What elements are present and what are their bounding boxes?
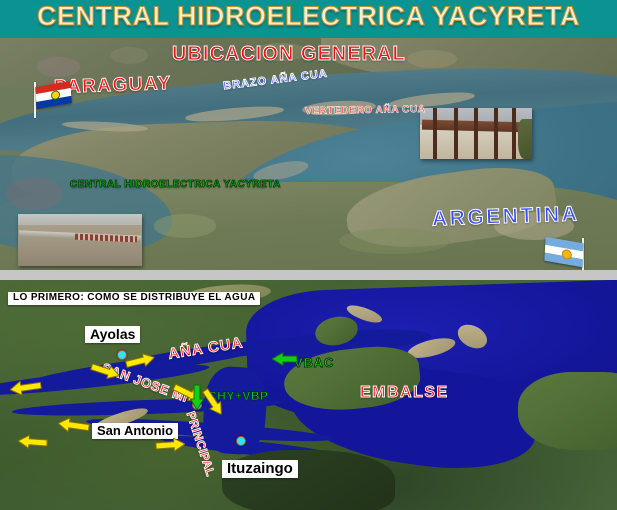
discharge-arrow-vbac <box>272 352 298 366</box>
bottom-map-terrain <box>0 280 617 510</box>
discharge-arrow-chy-vbp <box>190 384 204 410</box>
label-san-antonio: San Antonio <box>92 423 178 439</box>
flag-cloth <box>35 81 71 109</box>
photo-pier <box>454 108 458 159</box>
label-ayolas: Ayolas <box>85 326 140 343</box>
terrain-speckle <box>6 177 62 209</box>
photo-sky <box>18 214 142 225</box>
powerplant-photo-inset <box>18 214 142 266</box>
label-embalse: EMBALSE <box>360 385 449 401</box>
top-satellite-map: UBICACION GENERAL PARAGUAY BRAZO AÑA CUA… <box>0 38 617 270</box>
page-title: CENTRAL HIDROELECTRICA YACYRETA <box>0 1 617 32</box>
spillway-photo-inset <box>420 108 532 159</box>
paraguay-flag <box>26 82 72 118</box>
terrain-speckle <box>407 50 456 69</box>
terrain-speckle <box>339 228 450 254</box>
photo-pier <box>474 108 478 159</box>
photo-pier <box>433 108 437 159</box>
label-vbac: VBAC <box>294 356 334 369</box>
city-dot-ituzaingo <box>236 436 246 446</box>
flag-cloth <box>544 237 583 267</box>
terrain-speckle <box>154 214 216 237</box>
section-divider <box>0 270 617 280</box>
photo-pier <box>512 108 516 159</box>
slide-root: CENTRAL HIDROELECTRICA YACYRETA <box>0 0 617 510</box>
photo-pier <box>494 108 498 159</box>
vegetated-peninsula <box>518 372 617 450</box>
photo-riverbank <box>518 119 532 159</box>
terrain-speckle <box>111 47 148 63</box>
flow-arrow-yellow <box>155 437 186 453</box>
title-banner: CENTRAL HIDROELECTRICA YACYRETA <box>0 0 617 38</box>
flow-arrow-yellow <box>18 434 49 450</box>
label-vertedero-ana-cua: VERTEDERO AÑA CUA <box>305 105 426 117</box>
label-ubicacion-general: UBICACION GENERAL <box>172 44 406 64</box>
label-argentina: ARGENTINA <box>432 203 580 229</box>
caption-distribucion-agua: LO PRIMERO: COMO SE DISTRIBUYE EL AGUA <box>8 292 260 305</box>
bottom-satellite-map: LO PRIMERO: COMO SE DISTRIBUYE EL AGUA A… <box>0 280 617 510</box>
label-ituzaingo: Ituzaingo <box>222 460 298 478</box>
argentina-flag <box>545 238 597 270</box>
label-central-hidroelectrica: CENTRAL HIDROELECTRICA YACYRETA <box>70 180 281 190</box>
